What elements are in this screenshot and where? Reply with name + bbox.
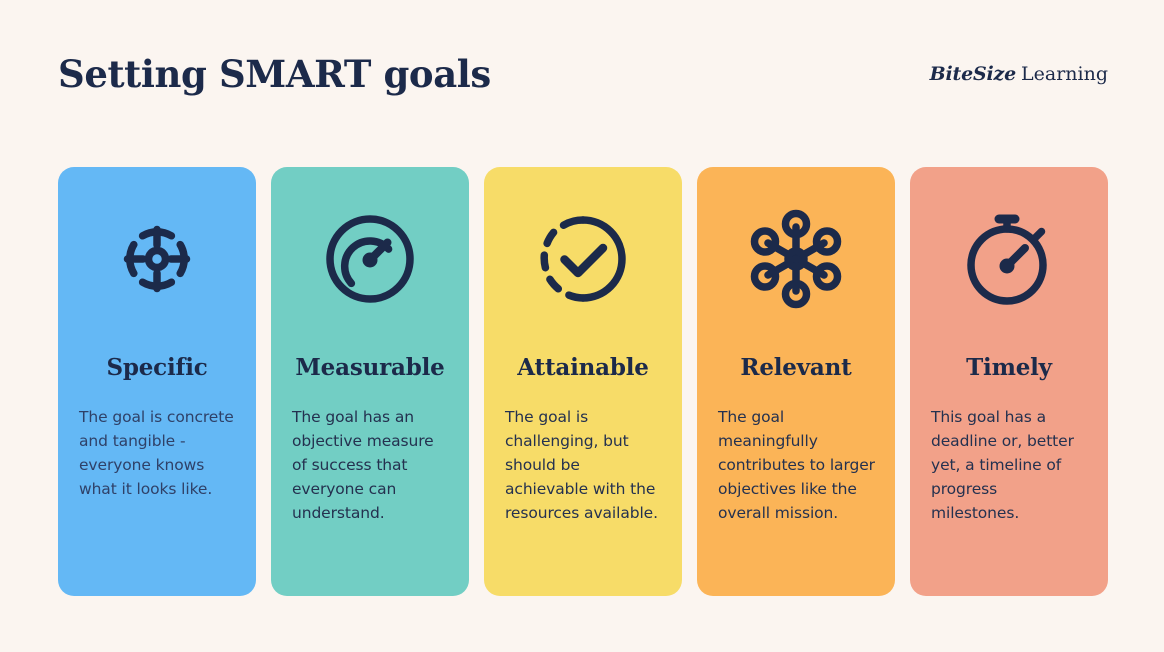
card-body: The goal is concrete and tangible - ever… [58,405,256,501]
smart-goal-cards: Specific The goal is concrete and tangib… [58,167,1108,596]
logo-primary-text: BiteSize [930,63,1016,85]
target-icon [105,207,209,311]
card-heading: Relevant [740,356,851,379]
card-specific[interactable]: Specific The goal is concrete and tangib… [58,167,256,596]
card-timely[interactable]: Timely This goal has a deadline or, bett… [910,167,1108,596]
card-body: The goal is challenging, but should be a… [484,405,682,525]
slide-canvas: Setting SMART goals BiteSizeLearning [0,0,1164,652]
card-heading: Attainable [517,356,648,379]
card-heading: Measurable [295,356,444,379]
card-measurable[interactable]: Measurable The goal has an objective mea… [271,167,469,596]
card-heading: Timely [966,356,1052,379]
card-body: This goal has a deadline or, better yet,… [910,405,1108,525]
logo-secondary-text: Learning [1021,63,1108,85]
page-title: Setting SMART goals [58,52,491,96]
network-hub-icon [744,207,848,311]
check-circle-dashed-icon [531,207,635,311]
slide-header: Setting SMART goals BiteSizeLearning [58,46,1108,102]
brand-logo: BiteSizeLearning [930,63,1108,85]
gauge-icon [318,207,422,311]
card-relevant[interactable]: Relevant The goal meaningfully contribut… [697,167,895,596]
card-attainable[interactable]: Attainable The goal is challenging, but … [484,167,682,596]
card-body: The goal has an objective measure of suc… [271,405,469,525]
stopwatch-icon [957,207,1061,311]
card-body: The goal meaningfully contributes to lar… [697,405,895,525]
card-heading: Specific [106,356,207,379]
